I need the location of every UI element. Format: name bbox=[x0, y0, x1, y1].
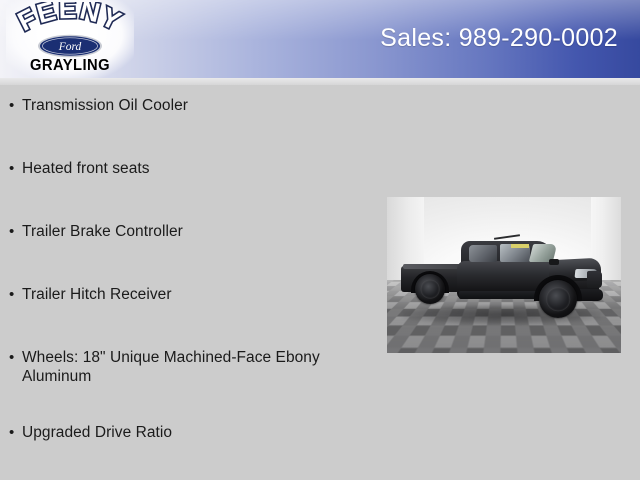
ford-oval-icon: Ford bbox=[37, 34, 103, 58]
sales-phone-number[interactable]: Sales: 989-290-0002 bbox=[380, 24, 618, 53]
vehicle-photo[interactable] bbox=[387, 197, 621, 353]
rear-rim bbox=[421, 280, 440, 299]
front-grille bbox=[587, 271, 602, 288]
svg-text:FEENY: FEENY bbox=[13, 2, 127, 37]
front-wheel bbox=[539, 280, 577, 318]
list-item: Transmission Oil Cooler bbox=[0, 96, 345, 115]
windshield-sticker bbox=[511, 244, 529, 248]
list-item: Trailer Hitch Receiver bbox=[0, 285, 345, 304]
dealer-city-label: GRAYLING bbox=[11, 57, 129, 75]
rear-door-window bbox=[469, 245, 497, 262]
rear-wheel bbox=[415, 274, 445, 304]
dealer-logo[interactable]: FEENY Ford GRAYLING bbox=[6, 0, 134, 78]
front-rim bbox=[546, 287, 570, 311]
side-mirror bbox=[549, 259, 559, 265]
vehicle-feature-list: Transmission Oil Cooler Heated front sea… bbox=[0, 96, 345, 480]
list-item: Heated front seats bbox=[0, 159, 345, 178]
list-item: Trailer Brake Controller bbox=[0, 222, 345, 241]
truck-antenna bbox=[494, 234, 520, 240]
list-item: Upgraded Drive Ratio bbox=[0, 423, 345, 442]
site-header: FEENY Ford GRAYLING Sales: 989-290-0002 bbox=[0, 0, 640, 78]
list-item: Wheels: 18" Unique Machined-Face Ebony A… bbox=[0, 348, 345, 386]
svg-text:Ford: Ford bbox=[58, 41, 82, 53]
header-divider bbox=[0, 78, 640, 85]
ford-maverick-truck bbox=[399, 233, 607, 329]
